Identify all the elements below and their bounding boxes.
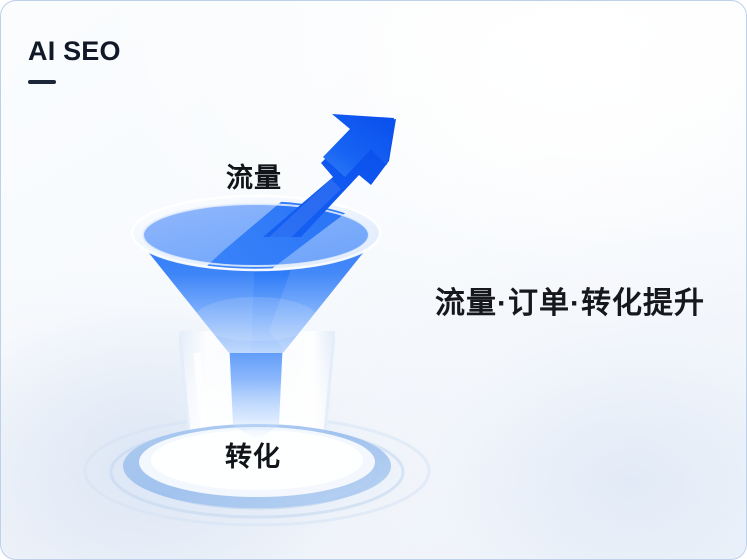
- funnel-label-traffic: 流量: [226, 156, 282, 195]
- page-title: AI SEO: [28, 38, 121, 65]
- poster-canvas: AI SEO 流量·订单·转化提升: [0, 0, 747, 560]
- brand-block: AI SEO: [28, 38, 121, 84]
- tagline-text: 流量·订单·转化提升: [435, 278, 705, 322]
- funnel-stem: [229, 339, 283, 441]
- brand-underline-rule: [28, 80, 56, 84]
- funnel-label-conversion: 转化: [225, 435, 281, 474]
